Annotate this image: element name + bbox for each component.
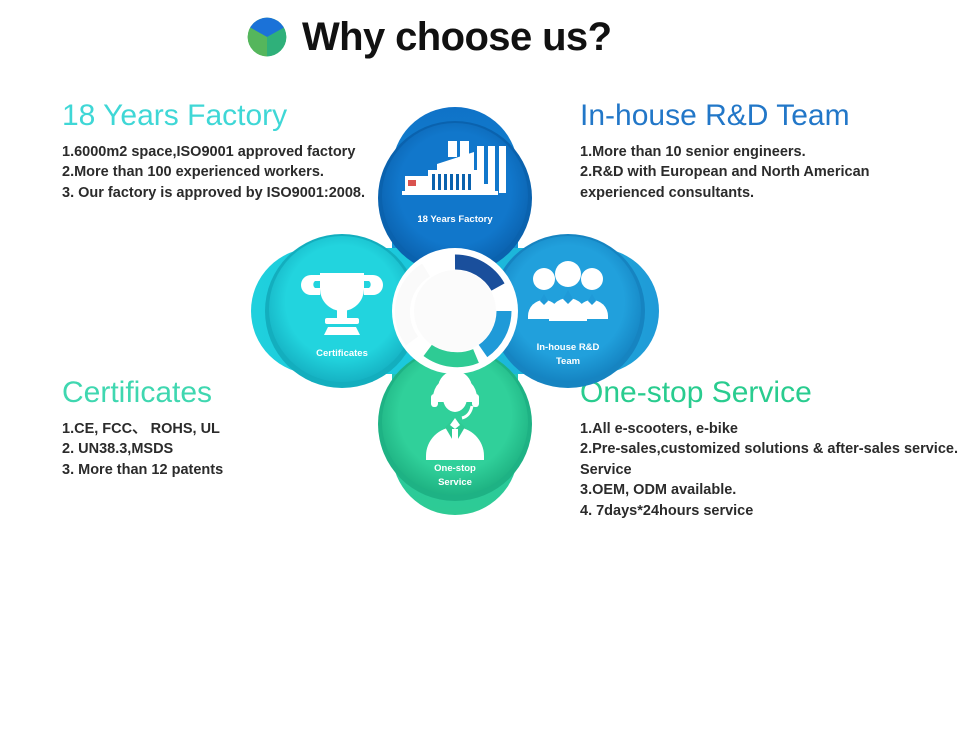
heading-certificates: Certificates [62,377,223,409]
badge-label-factory: 18 Years Factory [417,214,493,225]
list-item: 2. UN38.3,MSDS [62,439,223,460]
badge-label-rd-line1: In-house R&D [537,342,600,353]
tri-segment-circle-logo-icon [246,16,288,58]
cross-diagram: 18 Years Factory Certificates [232,88,678,534]
list-item: 1.CE, FCC、 ROHS, UL [62,419,223,440]
badge-label-service-line2: Service [438,477,472,488]
list-certificates: 1.CE, FCC、 ROHS, UL 2. UN38.3,MSDS 3. Mo… [62,419,223,481]
badge-label-certificates: Certificates [316,348,368,359]
page-title: Why choose us? [302,17,611,57]
page-title-row: Why choose us? [246,16,611,58]
segmented-ring-hub [392,248,518,374]
text-block-certificates: Certificates 1.CE, FCC、 ROHS, UL 2. UN38… [62,377,223,480]
badge-label-service-line1: One-stop [434,463,476,474]
badge-label-rd-line2: Team [556,356,580,367]
list-item: 3. More than 12 patents [62,460,223,481]
